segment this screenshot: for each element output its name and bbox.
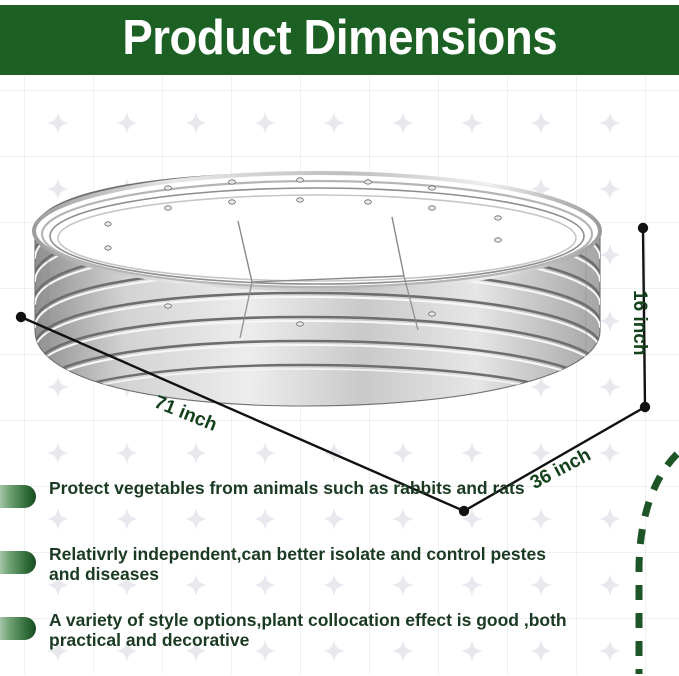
feature-text: Protect vegetables from animals such as … xyxy=(49,478,569,498)
feature-text: A variety of style options,plant colloca… xyxy=(49,610,569,650)
feature-text: Relativrly independent,can better isolat… xyxy=(49,544,569,584)
header-banner: Product Dimensions xyxy=(0,5,679,75)
list-item: A variety of style options,plant colloca… xyxy=(0,610,679,654)
dimension-endpoint-top xyxy=(638,223,648,233)
dimension-label-height: 16 inch xyxy=(628,290,650,355)
feature-list: Protect vegetables from animals such as … xyxy=(0,478,679,676)
dimension-endpoint-left xyxy=(16,312,26,322)
bullet-pill-icon xyxy=(0,551,36,574)
bullet-pill-icon xyxy=(0,617,36,640)
list-item: Protect vegetables from animals such as … xyxy=(0,478,679,522)
page-title: Product Dimensions xyxy=(113,12,566,68)
list-item: Relativrly independent,can better isolat… xyxy=(0,544,679,588)
garden-bed-rim xyxy=(34,173,600,289)
dimension-endpoint-right xyxy=(640,402,650,412)
bullet-pill-icon xyxy=(0,485,36,508)
